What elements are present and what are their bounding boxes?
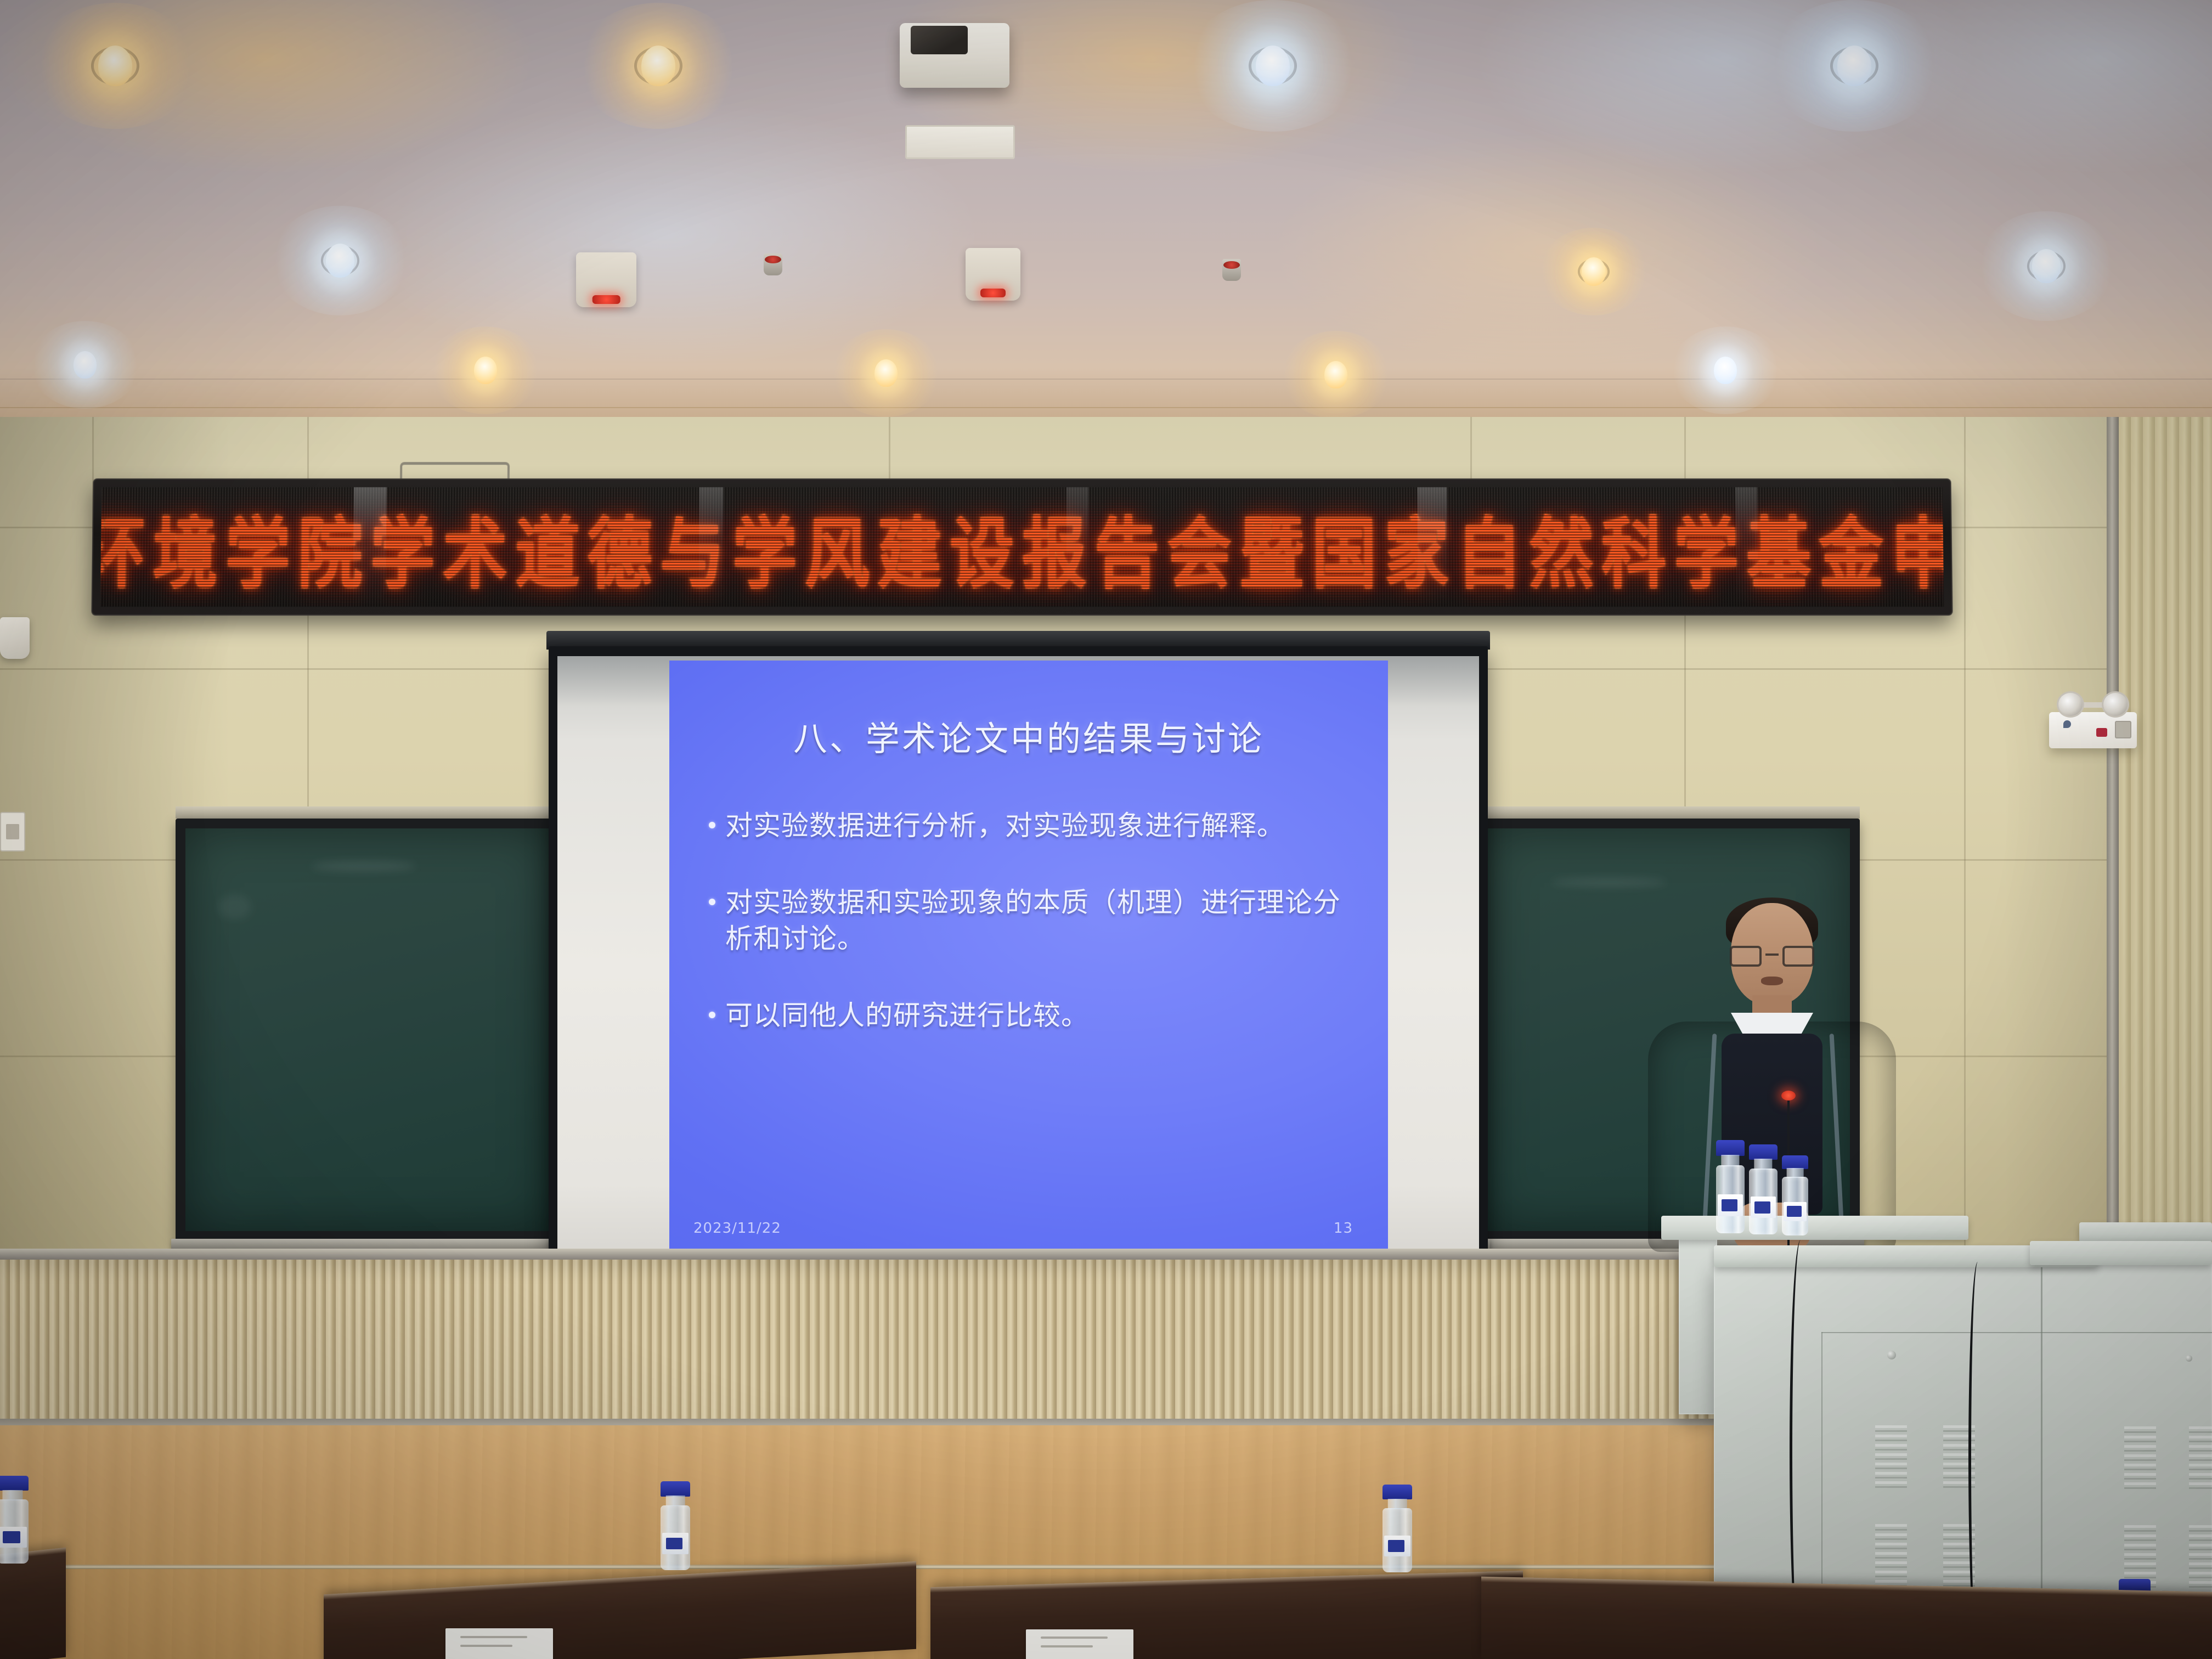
equipment-shelf (2030, 1241, 2212, 1265)
ceiling-spotlight (1794, 22, 1915, 110)
ceiling-spotlight (598, 22, 719, 110)
led-screen: 新能源与环境学院学术道德与学风建设报告会暨国家自然科学基金申报交流会 (100, 487, 1944, 607)
ceiling-spotlight (1684, 340, 1767, 400)
smoke-detector (966, 248, 1020, 301)
podium-worktop (1661, 1216, 1968, 1240)
presentation-slide: 八、学术论文中的结果与讨论 对实验数据进行分析，对实验现象进行解释。 对实验数据… (669, 661, 1388, 1253)
presenter-mouth (1761, 977, 1783, 985)
bullet-dot-icon (709, 899, 715, 905)
podium-cabinet-left[interactable] (1679, 1239, 1717, 1414)
ceiling-spotlight (1212, 22, 1333, 110)
water-bottle[interactable] (1782, 1155, 1808, 1235)
slide-page-number: 13 (1334, 1220, 1353, 1237)
equipment-shelf (2079, 1222, 2212, 1242)
chalkboard-left (176, 819, 560, 1241)
ceiling-spotlight (845, 343, 927, 403)
slide-bullet-list: 对实验数据进行分析，对实验现象进行解释。 对实验数据和实验现象的本质（机理）进行… (709, 808, 1363, 1074)
presenter-head (1731, 903, 1813, 1005)
lecture-hall-photo: 新能源与环境学院学术道德与学风建设报告会暨国家自然科学基金申报交流会 八、学术论… (0, 0, 2212, 1659)
bullet-text: 对实验数据进行分析，对实验现象进行解释。 (725, 808, 1285, 844)
front-desk (0, 1548, 66, 1659)
list-item: 对实验数据进行分析，对实验现象进行解释。 (709, 808, 1363, 844)
bullet-dot-icon (709, 822, 715, 828)
list-item: 对实验数据和实验现象的本质（机理）进行理论分析和讨论。 (709, 884, 1363, 957)
ceiling-spotlight (444, 340, 527, 400)
bullet-dot-icon (709, 1012, 715, 1018)
desk-paper[interactable] (1026, 1629, 1133, 1659)
ceiling-vent (905, 125, 1015, 159)
glasses-icon (1731, 946, 1813, 968)
slide-date: 2023/11/22 (693, 1220, 781, 1237)
chalkboard-top-trim (1476, 806, 1860, 819)
fire-sprinkler (1222, 259, 1241, 281)
microphone-led-indicator (1781, 1091, 1796, 1101)
water-bottle[interactable] (661, 1481, 690, 1570)
led-scrolling-sign: 新能源与环境学院学术道德与学风建设报告会暨国家自然科学基金申报交流会 (91, 478, 1953, 616)
column-edge-trim (2107, 417, 2119, 1273)
fluted-column (2119, 417, 2212, 1273)
bullet-text: 对实验数据和实验现象的本质（机理）进行理论分析和讨论。 (725, 884, 1363, 957)
projection-screen: 八、学术论文中的结果与讨论 对实验数据进行分析，对实验现象进行解释。 对实验数据… (549, 646, 1488, 1268)
ceiling-spotlight (44, 335, 126, 395)
desk-paper[interactable] (445, 1628, 553, 1659)
bullet-text: 可以同他人的研究进行比较。 (725, 997, 1089, 1034)
ceiling-spotlight (291, 225, 390, 296)
slide-title: 八、学术论文中的结果与讨论 (669, 711, 1388, 760)
cabinet-lock[interactable] (1887, 1351, 1896, 1359)
ceiling-spotlight (1997, 230, 2096, 302)
ceiling-projector (900, 23, 1009, 88)
smoke-detector (576, 252, 636, 307)
water-bottle[interactable] (1383, 1485, 1412, 1572)
emergency-light (2049, 712, 2137, 748)
list-item: 可以同他人的研究进行比较。 (709, 997, 1363, 1034)
screen-surface: 八、学术论文中的结果与讨论 对实验数据进行分析，对实验现象进行解释。 对实验数据… (557, 656, 1479, 1256)
ceiling-spotlight (1295, 345, 1377, 405)
led-banner-text: 新能源与环境学院学术道德与学风建设报告会暨国家自然科学基金申报交流会 (100, 492, 1944, 602)
chalkboard-top-trim (176, 806, 560, 819)
wall-speaker (0, 617, 30, 659)
ceiling-spotlight (55, 22, 176, 110)
fire-sprinkler (764, 253, 782, 275)
cabinet-lock[interactable] (2186, 1355, 2192, 1362)
wall-outlet (0, 812, 25, 851)
ceiling-spotlight (1553, 241, 1635, 302)
water-bottle[interactable] (1749, 1144, 1778, 1234)
water-bottle[interactable] (0, 1476, 29, 1564)
water-bottle[interactable] (1716, 1140, 1745, 1233)
